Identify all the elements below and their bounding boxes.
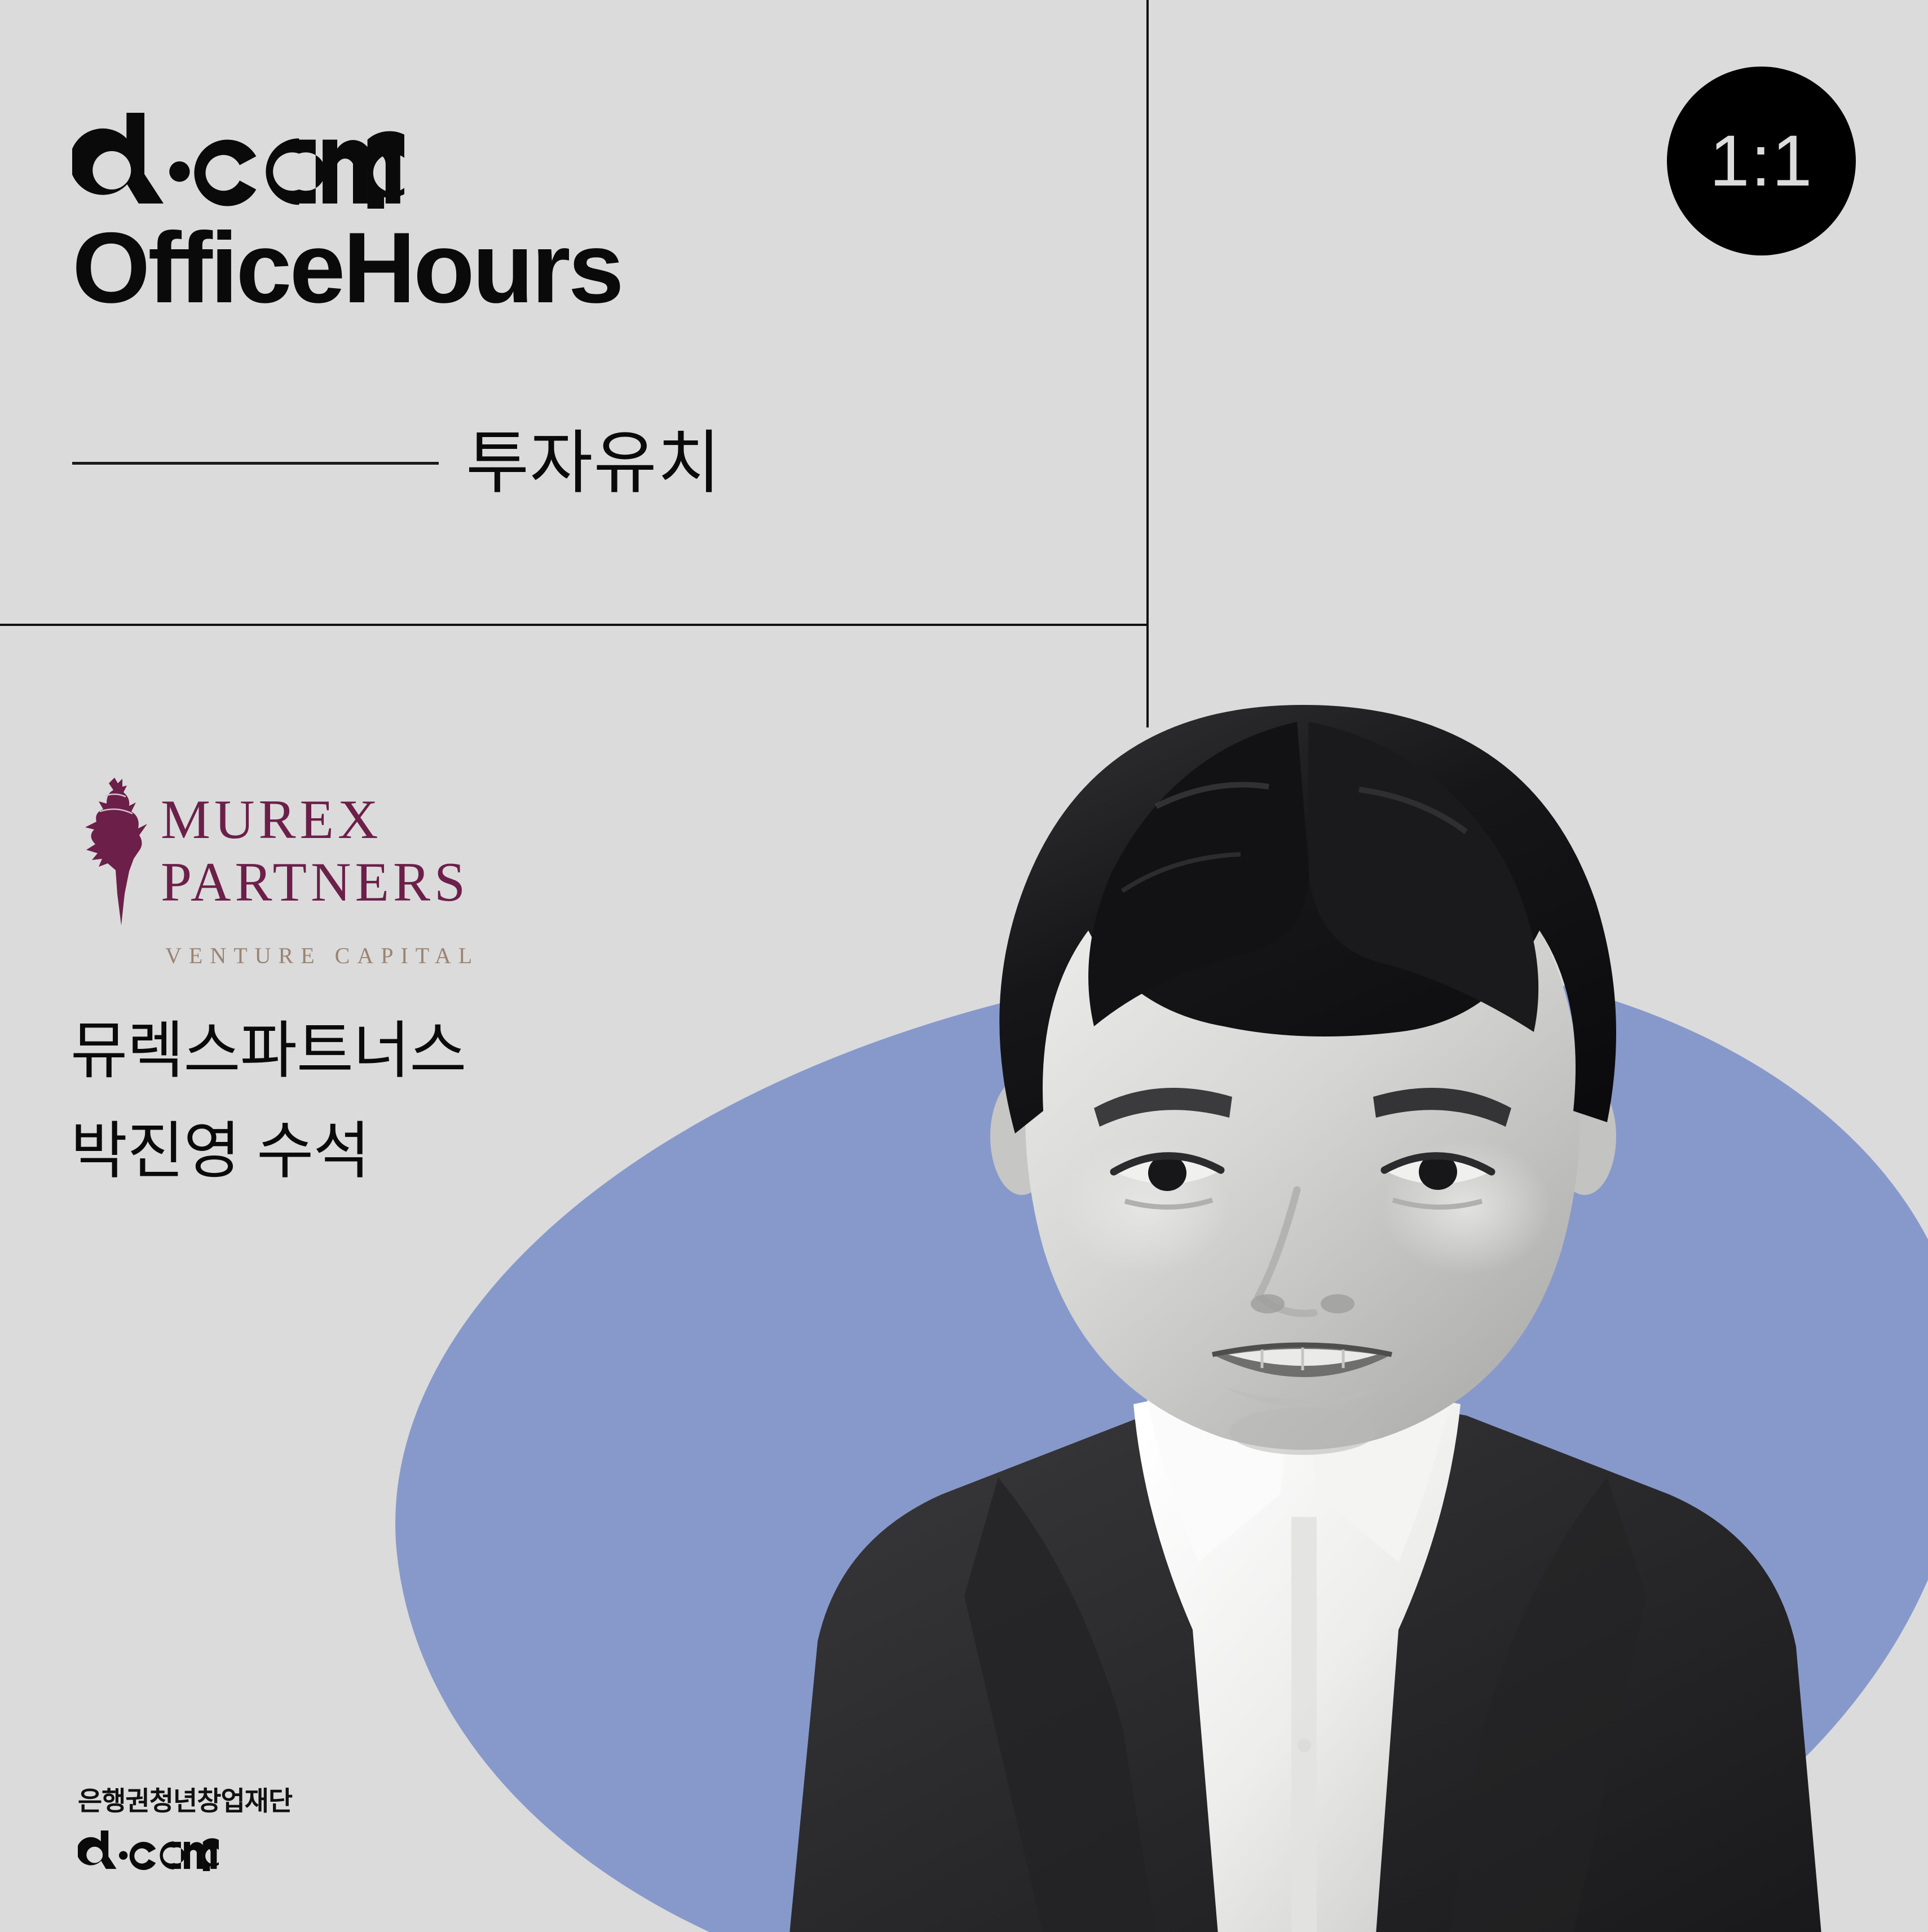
subtitle-rule [72, 462, 439, 465]
one-to-one-badge-label: 1:1 [1710, 125, 1814, 197]
dcamp-wordmark-logo [72, 113, 404, 209]
poster-header: OfficeHours [72, 113, 622, 319]
subtitle-row: 투자유치 [72, 429, 721, 497]
vertical-divider [1146, 0, 1149, 727]
partner-logo-row: MUREX PARTNERS [82, 775, 479, 928]
speaker-name-title: 박진영 수석 [70, 1101, 466, 1202]
partner-logo-block: MUREX PARTNERS VENTURE CAPITAL [82, 775, 479, 969]
partner-tagline: VENTURE CAPITAL [165, 942, 479, 969]
poster-footer: 은행권청년창업재단 [78, 1779, 292, 1871]
speaker-portrait-photo [648, 637, 1928, 1932]
horizontal-divider [0, 624, 1149, 626]
partner-name-line-1: MUREX [161, 789, 469, 852]
page-title: OfficeHours [72, 217, 622, 319]
subtitle-label: 투자유치 [466, 429, 721, 497]
footer-organization: 은행권청년창업재단 [78, 1779, 292, 1818]
one-to-one-badge: 1:1 [1667, 67, 1856, 255]
dcamp-wordmark-logo-footer [78, 1830, 219, 1871]
partner-wordmark: MUREX PARTNERS [161, 775, 469, 914]
murex-shell-icon [82, 775, 148, 928]
partner-name-line-2: PARTNERS [161, 852, 469, 914]
speaker-company: 뮤렉스파트너스 [70, 1001, 466, 1101]
office-hours-poster: 1:1 OfficeHours 투자유치 [0, 0, 1928, 1932]
speaker-info: 뮤렉스파트너스 박진영 수석 [70, 1001, 466, 1202]
